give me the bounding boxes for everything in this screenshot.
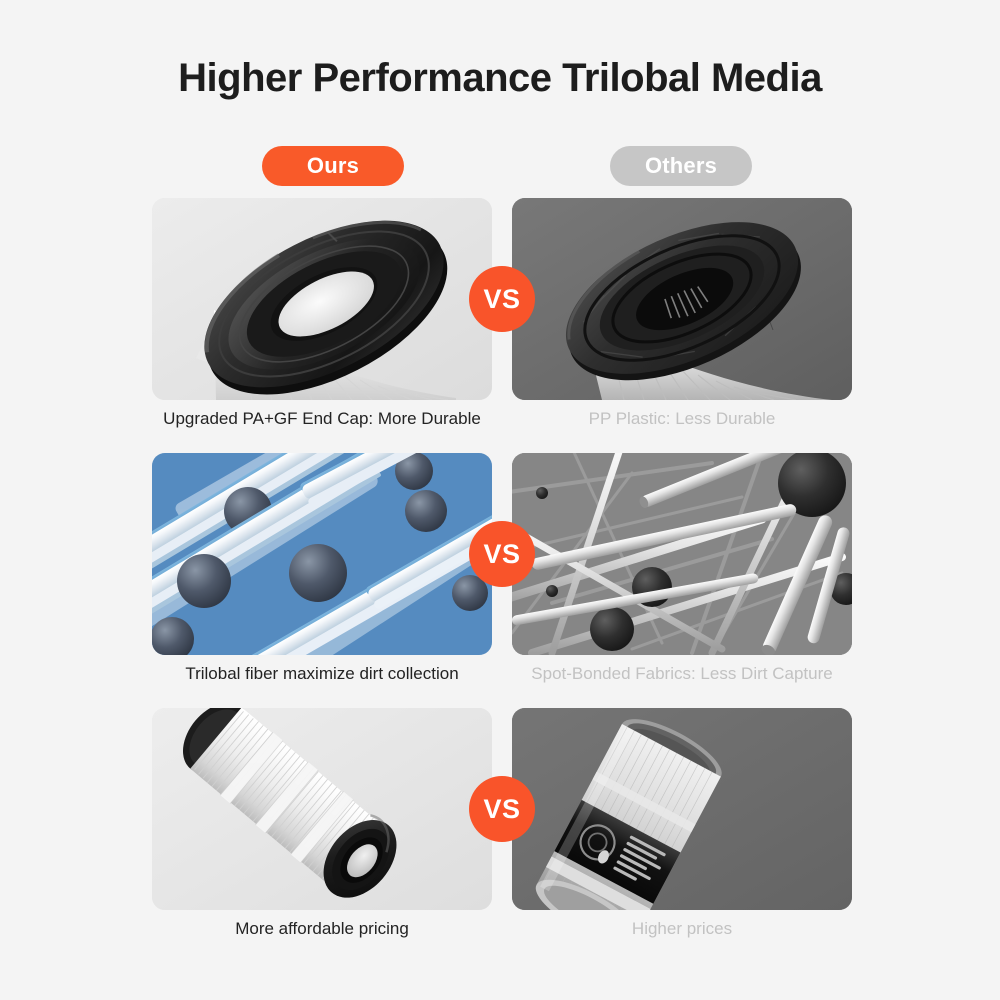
others-image-end-cap — [512, 198, 852, 400]
spot-bonded-round-fiber-3d-render — [512, 453, 852, 655]
worn-degraded-filter-end-cap-photo — [512, 198, 852, 400]
trilobal-fiber-3d-render — [152, 453, 492, 655]
full-filter-cartridge-photo — [152, 708, 492, 910]
column-badges: Ours Others — [0, 146, 1000, 188]
infographic-page: Higher Performance Trilobal Media Ours O… — [0, 0, 1000, 1000]
vs-badge-row-2: VS — [469, 521, 535, 587]
ours-image-end-cap — [152, 198, 492, 400]
others-caption-pricing: Higher prices — [512, 918, 852, 940]
others-caption-fiber: Spot-Bonded Fabrics: Less Dirt Capture — [512, 663, 852, 685]
ours-caption-pricing: More affordable pricing — [152, 918, 492, 940]
others-image-spot-bonded — [512, 453, 852, 655]
vs-badge-row-1: VS — [469, 266, 535, 332]
pool-filter-end-cap-black-photo — [152, 198, 492, 400]
ours-caption-fiber: Trilobal fiber maximize dirt collection — [152, 663, 492, 685]
others-caption-end-cap: PP Plastic: Less Durable — [512, 408, 852, 430]
competitor-filter-cartridge-photo — [512, 708, 852, 910]
badge-ours: Ours — [262, 146, 404, 186]
ours-caption-end-cap: Upgraded PA+GF End Cap: More Durable — [152, 408, 492, 430]
others-image-cartridge — [512, 708, 852, 910]
ours-image-trilobal-fiber — [152, 453, 492, 655]
ours-image-cartridge — [152, 708, 492, 910]
page-title: Higher Performance Trilobal Media — [0, 55, 1000, 101]
badge-others: Others — [610, 146, 752, 186]
vs-badge-row-3: VS — [469, 776, 535, 842]
